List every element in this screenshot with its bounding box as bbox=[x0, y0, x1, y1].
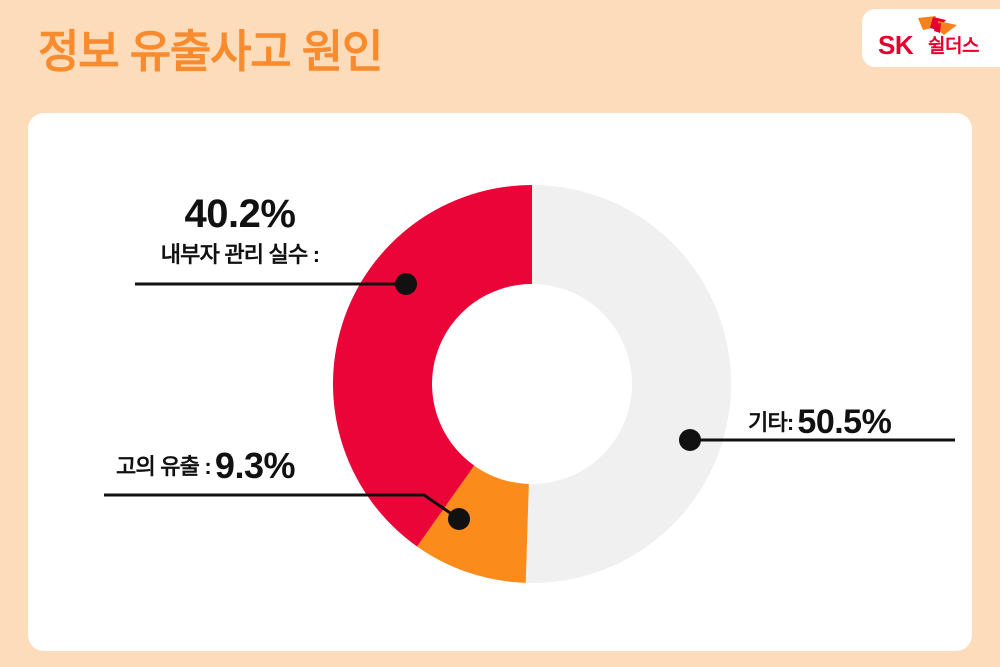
slide-canvas: 정보 유출사고 원인 SK 쉴더스 bbox=[0, 0, 1000, 667]
page-title: 정보 유출사고 원인 bbox=[38, 22, 382, 82]
callout-intentional-leak-label: 고의 유출 : bbox=[116, 454, 211, 479]
header: 정보 유출사고 원인 SK 쉴더스 bbox=[0, 0, 1000, 113]
butterfly-mark-icon bbox=[916, 15, 958, 37]
callout-intentional-leak: 고의 유출 :9.3% bbox=[116, 449, 295, 484]
callout-other: 기타:50.5% bbox=[748, 405, 891, 440]
callout-insider-mistake: 40.2% 내부자 관리 실수 : bbox=[135, 190, 345, 270]
callout-other-label: 기타: bbox=[748, 410, 793, 435]
logo-inner: SK 쉴더스 bbox=[876, 15, 1000, 61]
brand-logo: SK 쉴더스 bbox=[862, 9, 1000, 67]
callout-intentional-leak-value: 9.3% bbox=[215, 445, 295, 486]
logo-sk-text: SK bbox=[878, 31, 913, 59]
callout-insider-mistake-label: 내부자 관리 실수 : bbox=[135, 240, 345, 270]
callout-other-value: 50.5% bbox=[797, 403, 891, 441]
callout-insider-mistake-value: 40.2% bbox=[135, 190, 345, 238]
logo-shieldus-text: 쉴더스 bbox=[928, 35, 979, 59]
